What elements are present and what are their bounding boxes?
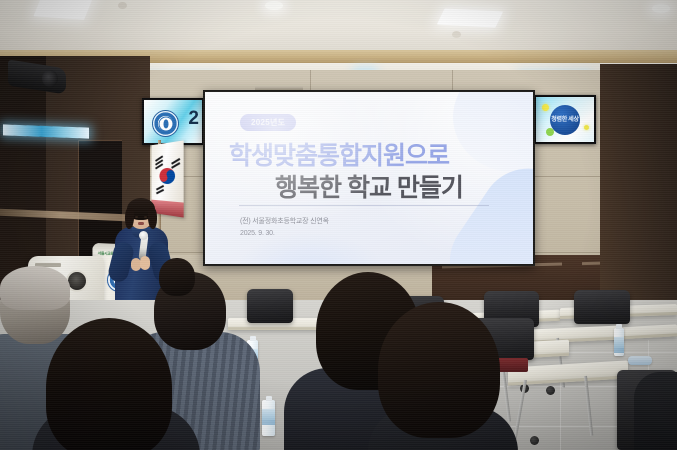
taeguk-symbol	[156, 165, 177, 187]
slide-title-line1: 학생맞춤통합지원으로	[229, 136, 449, 172]
bottle-label	[262, 409, 275, 420]
projection-screen: 2025년도 학생맞춤통합지원으로 행복한 학교 만들기 (전) 서울정화초등학…	[203, 90, 535, 266]
presenter-hair-right	[148, 208, 157, 229]
integrity-emblem-text: 청렴한 세상	[551, 117, 578, 123]
table-caster	[530, 436, 539, 445]
chair[interactable]	[574, 290, 630, 324]
school-seal-icon	[152, 110, 179, 137]
presenter-eye	[135, 216, 138, 218]
microphone-head-icon	[139, 231, 148, 240]
audience-head	[159, 258, 195, 296]
ceiling-sprinkler	[118, 2, 127, 9]
water-bottle[interactable]	[262, 400, 275, 436]
bottle-cap	[266, 396, 272, 401]
slide-divider	[239, 205, 489, 206]
right-monitor-screen: 청렴한 세상	[536, 97, 594, 142]
integrity-emblem-icon: 청렴한 세상	[550, 105, 580, 135]
projector-lens-icon	[42, 70, 58, 87]
audience-hair	[46, 318, 172, 450]
left-wall-monitor: 2	[142, 98, 204, 145]
slide-presenter-text: (전) 서울정화초등학교장 신연옥	[240, 216, 329, 226]
ceiling-sensor	[452, 31, 461, 38]
yellow-dot-decor	[584, 125, 589, 130]
presenter-eye	[144, 216, 147, 218]
left-monitor-screen: 2	[144, 100, 202, 143]
school-seal-figure	[163, 119, 168, 128]
right-wall-monitor: 청렴한 세상	[534, 95, 596, 144]
list-item	[640, 352, 677, 450]
slide-decor-shape	[453, 92, 533, 172]
table-caster	[546, 386, 555, 395]
ceiling-light-panel	[33, 0, 94, 20]
slide-title-line2: 행복한 학교 만들기	[275, 168, 463, 204]
ceiling-downlight	[265, 1, 283, 10]
yellow-dot-decor	[542, 104, 549, 111]
slide-date-text: 2025. 9. 30.	[240, 230, 275, 237]
chair[interactable]	[247, 289, 293, 323]
ceiling-light-panel	[437, 8, 503, 27]
audience-hair	[378, 302, 500, 438]
audience-body	[634, 372, 677, 450]
ceiling-downlight	[652, 4, 670, 13]
bottle-label-text	[262, 420, 275, 425]
presentation-slide: 2025년도 학생맞춤통합지원으로 행복한 학교 만들기 (전) 서울정화초등학…	[205, 92, 533, 264]
slide-year-badge: 2025년도	[240, 114, 296, 131]
left-monitor-number: 2	[188, 108, 198, 130]
list-item	[372, 302, 512, 450]
audience-hair	[0, 266, 70, 310]
right-side-wall	[600, 64, 677, 314]
presenter-mouth	[138, 222, 144, 225]
bottle-cap	[616, 324, 622, 329]
list-item	[149, 258, 207, 306]
seminar-room-photo: 2 청렴한 세상 2025년도 학생맞춤통합지원으로 행복한 학교 만들기 (전…	[0, 0, 677, 450]
list-item	[38, 318, 188, 450]
